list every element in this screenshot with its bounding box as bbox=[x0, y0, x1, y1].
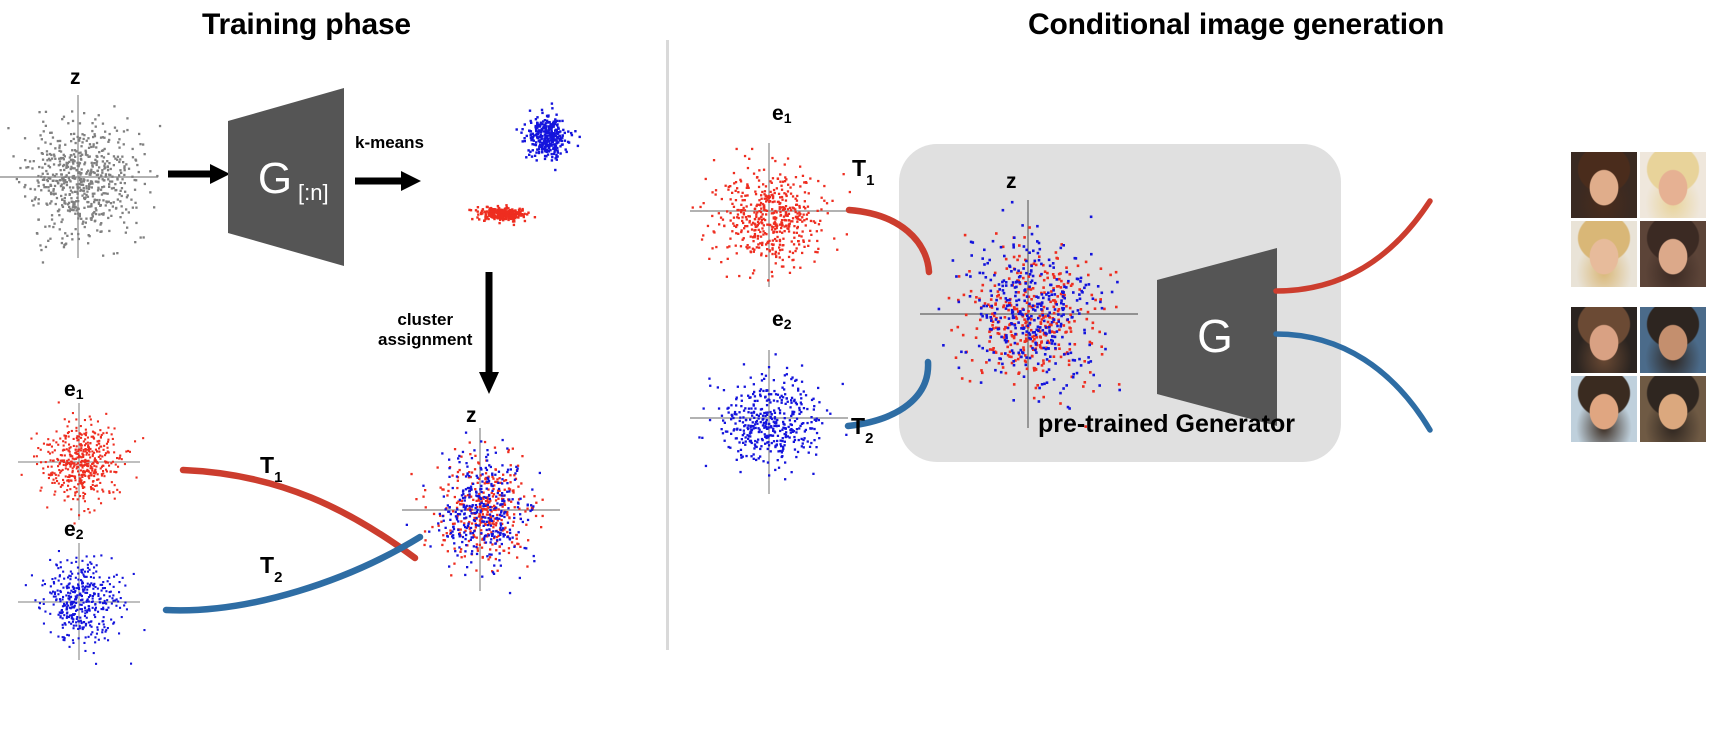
t2-curve-gen bbox=[838, 356, 978, 466]
e2-label-train: e2 bbox=[64, 518, 83, 542]
scatter-e1-train bbox=[18, 403, 142, 521]
generator-letter: G bbox=[258, 154, 292, 203]
left-panel-title: Training phase bbox=[202, 8, 411, 42]
panel-divider bbox=[666, 40, 669, 650]
scatter-kmeans-output bbox=[420, 95, 600, 250]
cluster-assignment-line2: assignment bbox=[378, 330, 472, 350]
scatter-points bbox=[21, 401, 145, 524]
female-face-3 bbox=[1571, 221, 1637, 287]
male-face-grid bbox=[1571, 307, 1706, 442]
e2-letter: e bbox=[64, 518, 76, 541]
scatter-points bbox=[692, 148, 851, 282]
z-label-gen: z bbox=[1006, 170, 1017, 194]
female-face-grid bbox=[1571, 152, 1706, 287]
t1-letter: T bbox=[260, 452, 274, 478]
e1-letter: e bbox=[64, 378, 76, 401]
scatter-kmeans-svg bbox=[420, 95, 600, 250]
e1-subscript: 1 bbox=[76, 386, 84, 402]
e1-letter: e bbox=[772, 102, 784, 125]
scatter-points bbox=[698, 353, 847, 480]
right-panel-title: Conditional image generation bbox=[1028, 8, 1444, 42]
t2-curve-train bbox=[150, 500, 440, 630]
t2-letter: T bbox=[851, 413, 865, 439]
t1-label-train: T1 bbox=[260, 452, 282, 483]
t2-letter: T bbox=[260, 552, 274, 578]
trapezoid-shape-icon: G [:n] bbox=[228, 88, 344, 266]
female-face-1 bbox=[1571, 152, 1637, 218]
scatter-z-input bbox=[0, 95, 160, 260]
trapezoid-shape-icon-gen: G bbox=[1157, 248, 1277, 426]
output-curve-red bbox=[1272, 195, 1472, 305]
arrow-right-icon-2 bbox=[355, 168, 421, 194]
pretrained-generator-caption: pre-trained Generator bbox=[1038, 410, 1295, 439]
t1-subscript: 1 bbox=[274, 469, 282, 486]
kmeans-label: k-means bbox=[355, 133, 424, 153]
t1-curve-gen bbox=[845, 190, 985, 300]
female-face-2 bbox=[1640, 152, 1706, 218]
z-input-label: z bbox=[70, 66, 81, 90]
t2-label-gen: T2 bbox=[851, 413, 873, 444]
output-curve-blue bbox=[1272, 330, 1472, 440]
generator-sublabel: [:n] bbox=[298, 180, 329, 205]
e2-subscript: 2 bbox=[784, 316, 792, 332]
e2-subscript: 2 bbox=[76, 526, 84, 542]
male-face-1 bbox=[1571, 307, 1637, 373]
arrow-right-icon bbox=[168, 160, 230, 188]
e2-label-gen: e2 bbox=[772, 308, 791, 332]
arrow-down-icon bbox=[475, 272, 503, 394]
scatter-points bbox=[7, 105, 161, 263]
male-face-2 bbox=[1640, 307, 1706, 373]
scatter-points bbox=[25, 550, 146, 665]
t1-subscript: 1 bbox=[866, 172, 874, 189]
female-face-4 bbox=[1640, 221, 1706, 287]
male-face-4 bbox=[1640, 376, 1706, 442]
scatter-e2-train bbox=[18, 543, 142, 661]
scatter-e2-gen bbox=[690, 350, 850, 495]
cluster-assignment-label: cluster assignment bbox=[378, 310, 472, 349]
t2-subscript: 2 bbox=[274, 569, 282, 586]
e1-label-train: e1 bbox=[64, 378, 83, 402]
generator-letter: G bbox=[1197, 310, 1233, 362]
scatter-z-input-svg bbox=[0, 95, 160, 260]
e1-label-gen: e1 bbox=[772, 102, 791, 126]
t1-label-gen: T1 bbox=[852, 155, 874, 186]
e2-letter: e bbox=[772, 308, 784, 331]
cluster-assignment-line1: cluster bbox=[378, 310, 472, 330]
scatter-z-train-mixed bbox=[402, 428, 562, 593]
t1-letter: T bbox=[852, 155, 866, 181]
t2-label-train: T2 bbox=[260, 552, 282, 583]
scatter-e1-gen bbox=[690, 143, 850, 288]
e1-subscript: 1 bbox=[784, 110, 792, 126]
z-output-label: z bbox=[466, 404, 477, 428]
t2-subscript: 2 bbox=[865, 430, 873, 447]
scatter-points bbox=[406, 432, 544, 595]
scatter-points bbox=[468, 102, 581, 226]
male-face-3 bbox=[1571, 376, 1637, 442]
